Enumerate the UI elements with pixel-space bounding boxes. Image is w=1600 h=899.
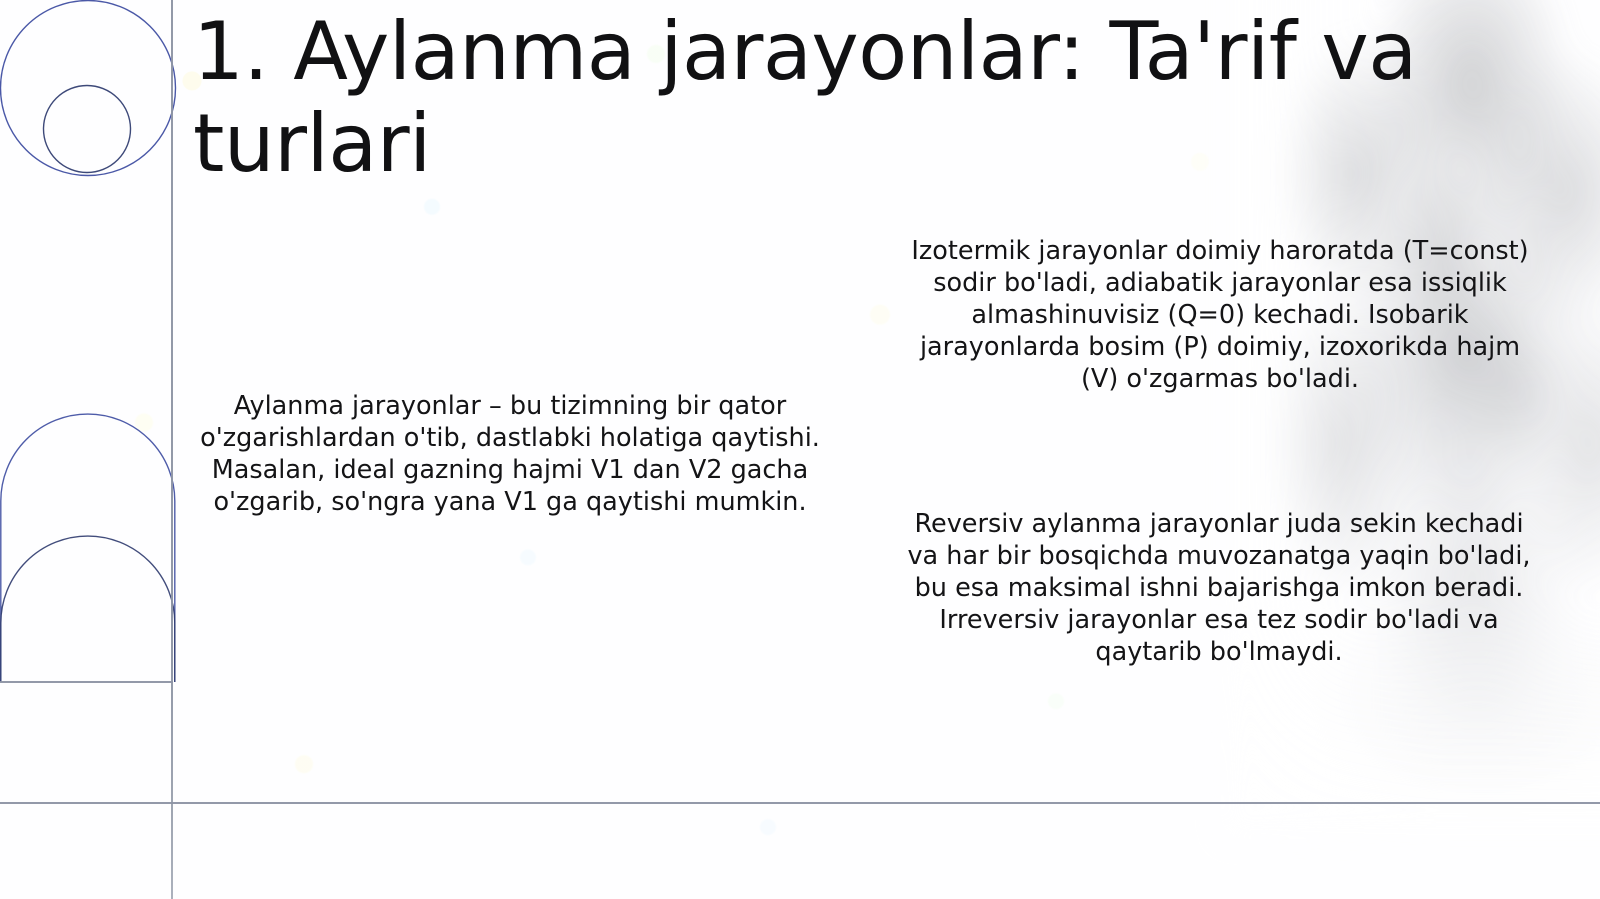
body-text-top-right: Izotermik jarayonlar doimiy haroratda (T…	[906, 235, 1534, 395]
small-circle-outline	[44, 86, 131, 173]
decorative-line-art	[0, 0, 200, 899]
large-circle-outline	[1, 1, 176, 176]
short-horizontal-rule	[0, 681, 173, 683]
body-text-bottom-right: Reversiv aylanma jarayonlar juda sekin k…	[896, 508, 1542, 668]
upper-arch-outline	[1, 414, 175, 682]
vertical-divider-rule	[171, 0, 173, 899]
slide-title: 1. Aylanma jarayonlar: Ta'rif va turlari	[193, 6, 1463, 190]
presentation-slide: 1. Aylanma jarayonlar: Ta'rif va turlari…	[0, 0, 1600, 899]
body-text-left: Aylanma jarayonlar – bu tizimning bir qa…	[186, 390, 834, 518]
lower-arch-outline	[1, 536, 175, 682]
full-width-horizontal-rule	[0, 802, 1600, 804]
